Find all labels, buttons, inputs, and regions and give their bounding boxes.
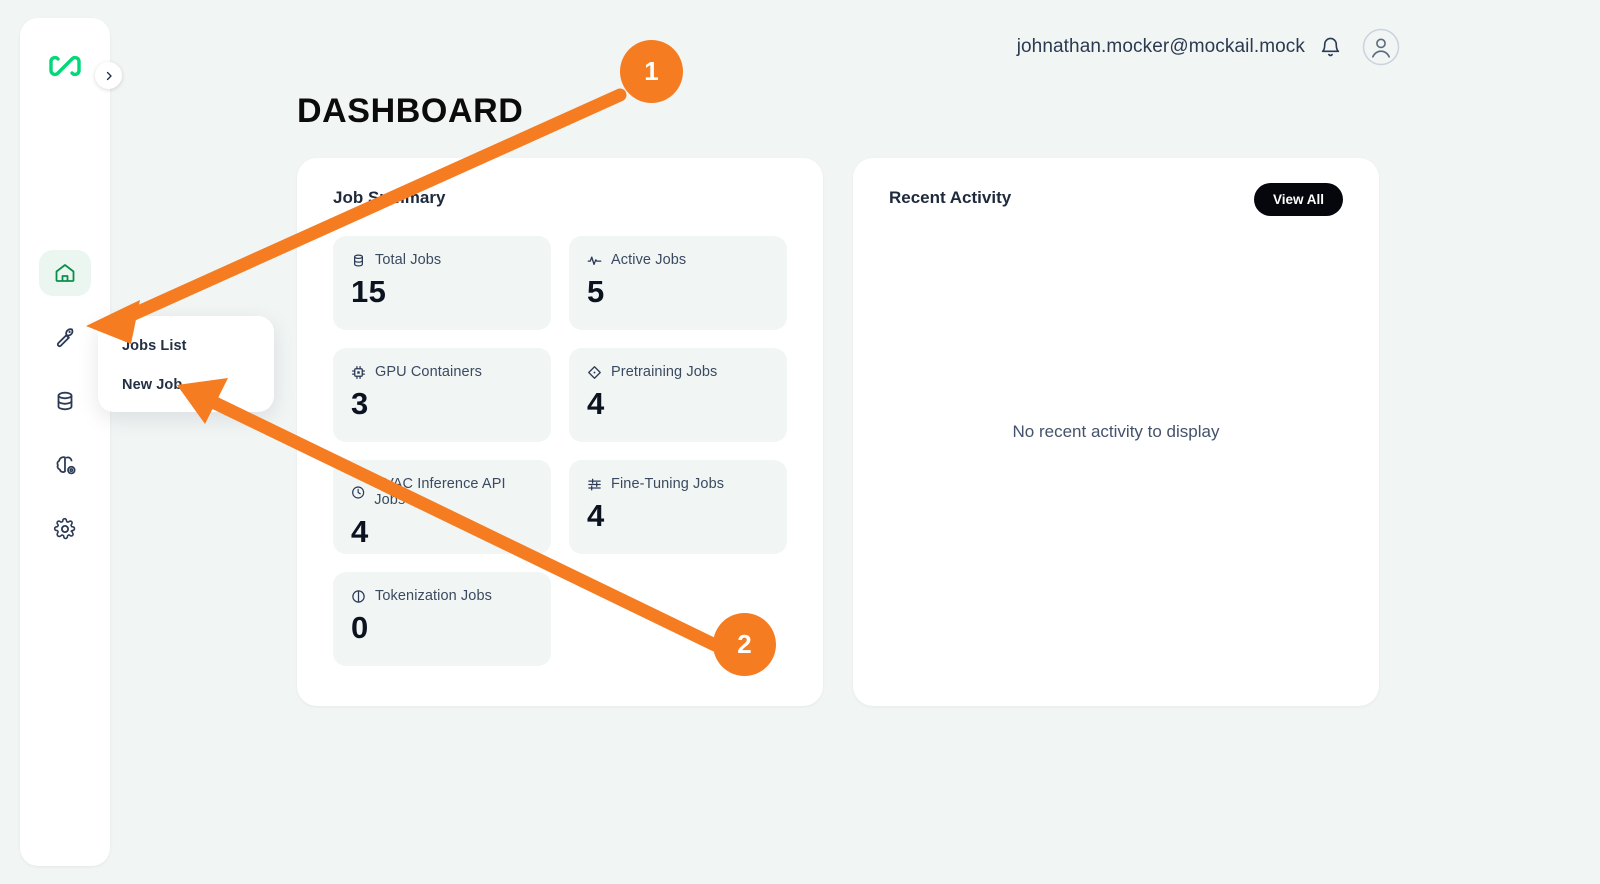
jobs-flyout-menu: Jobs List New Job [98, 316, 274, 412]
sidebar-item-home[interactable] [39, 250, 91, 296]
sidebar-collapse-button[interactable] [95, 62, 122, 89]
wrench-icon [53, 325, 77, 349]
database-icon [351, 253, 366, 268]
home-icon [53, 261, 77, 285]
stat-card-tokenization-jobs[interactable]: Tokenization Jobs 0 [333, 572, 551, 666]
user-avatar-button[interactable] [1362, 28, 1400, 66]
stat-head: Active Jobs [587, 252, 769, 268]
app-root: Jobs List New Job johnathan.mocker@mocka… [0, 0, 1600, 884]
flyout-item-jobs-list[interactable]: Jobs List [122, 338, 274, 354]
diamond-icon [587, 365, 602, 380]
sliders-icon [587, 477, 602, 492]
page-title: DASHBOARD [297, 92, 523, 131]
stat-card-total-jobs[interactable]: Total Jobs 15 [333, 236, 551, 330]
annotation-badge-2: 2 [713, 613, 776, 676]
stat-label: Fine-Tuning Jobs [611, 476, 724, 492]
annotation-badge-1: 1 [620, 40, 683, 103]
infinity-logo-icon [48, 54, 82, 78]
chevron-right-icon [103, 70, 115, 82]
sidebar-item-datasets[interactable] [39, 378, 91, 424]
stat-label: Pretraining Jobs [611, 364, 717, 380]
stat-label: BVAC Inference API Jobs [374, 476, 533, 508]
stat-card-gpu-containers[interactable]: GPU Containers 3 [333, 348, 551, 442]
recent-activity-empty-message: No recent activity to display [853, 158, 1379, 706]
flyout-item-new-job[interactable]: New Job [122, 377, 274, 393]
stat-head: Total Jobs [351, 252, 533, 268]
gear-icon [53, 517, 77, 541]
split-circle-icon [351, 589, 366, 604]
activity-pulse-icon [587, 253, 602, 268]
stat-value: 0 [351, 610, 533, 646]
database-icon [53, 389, 77, 413]
sidebar [20, 18, 110, 866]
user-email-label: johnathan.mocker@mockail.mock [1017, 36, 1305, 58]
stat-value: 15 [351, 274, 533, 310]
job-summary-grid: Total Jobs 15 Active Jobs 5 [333, 236, 787, 666]
sidebar-item-jobs[interactable] [39, 314, 91, 360]
bell-icon [1319, 36, 1342, 59]
stat-card-fine-tuning-jobs[interactable]: Fine-Tuning Jobs 4 [569, 460, 787, 554]
stat-card-active-jobs[interactable]: Active Jobs 5 [569, 236, 787, 330]
stat-label: Total Jobs [375, 252, 441, 268]
stat-label: GPU Containers [375, 364, 482, 380]
stat-head: Pretraining Jobs [587, 364, 769, 380]
notifications-button[interactable] [1319, 36, 1342, 59]
clock-icon [351, 485, 365, 500]
stat-head: GPU Containers [351, 364, 533, 380]
brain-gear-icon [53, 453, 78, 478]
user-avatar-icon [1362, 28, 1400, 66]
stat-head: Fine-Tuning Jobs [587, 476, 769, 492]
stat-label: Active Jobs [611, 252, 686, 268]
stat-value: 3 [351, 386, 533, 422]
stat-value: 4 [351, 514, 533, 550]
sidebar-nav [20, 250, 110, 552]
stat-value: 5 [587, 274, 769, 310]
top-bar: johnathan.mocker@mockail.mock [1017, 28, 1400, 66]
stat-head: BVAC Inference API Jobs [351, 476, 533, 508]
stat-value: 4 [587, 498, 769, 534]
sidebar-item-models[interactable] [39, 442, 91, 488]
stat-value: 4 [587, 386, 769, 422]
stat-label: Tokenization Jobs [375, 588, 492, 604]
cpu-chip-icon [351, 365, 366, 380]
stat-card-pretraining-jobs[interactable]: Pretraining Jobs 4 [569, 348, 787, 442]
stat-card-inference-api-jobs[interactable]: BVAC Inference API Jobs 4 [333, 460, 551, 554]
recent-activity-panel: Recent Activity View All No recent activ… [853, 158, 1379, 706]
sidebar-item-settings[interactable] [39, 506, 91, 552]
stat-head: Tokenization Jobs [351, 588, 533, 604]
job-summary-title: Job Summary [333, 188, 445, 208]
